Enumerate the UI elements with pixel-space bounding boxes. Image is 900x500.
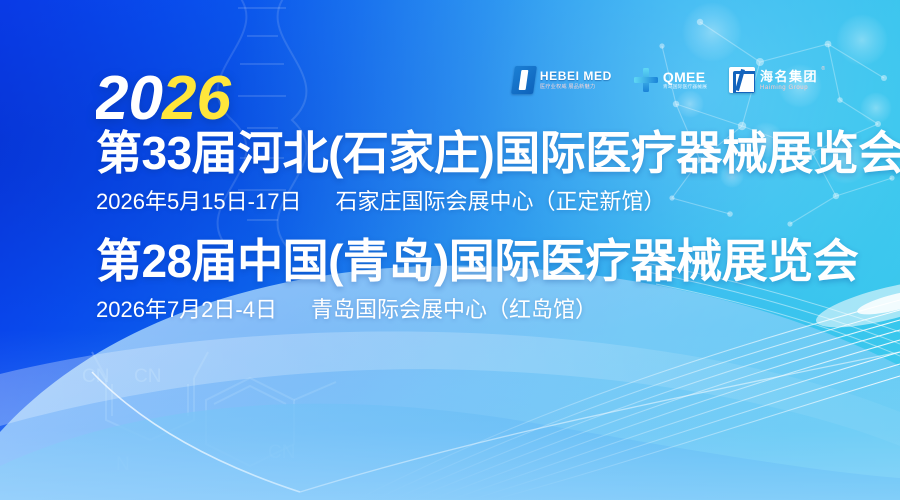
- event-2-venue: 青岛国际会展中心（红岛馆）: [311, 297, 597, 323]
- qmee-tagline: 青岛国际医疗器械展: [663, 86, 707, 91]
- qmee-name: QMEE: [663, 70, 707, 84]
- haiming-name-en: Haiming Group: [760, 85, 818, 91]
- event-1-date: 2026年5月15日-17日: [96, 189, 301, 215]
- hebei-med-name: HEBEI MED: [540, 70, 612, 82]
- partner-logo-hebei-med: HEBEI MED 医疗业权威 展品新魅力: [513, 66, 612, 94]
- event-block-1: 第33届河北(石家庄)国际医疗器械展览会 2026年5月15日-17日 石家庄国…: [96, 128, 900, 215]
- event-2-title: 第28届中国(青岛)国际医疗器械展览会: [96, 236, 858, 288]
- year-logo-part-white: 20: [96, 64, 163, 124]
- event-banner: CN CN N CN: [0, 0, 900, 500]
- partner-logo-qmee: QMEE 青岛国际医疗器械展: [634, 68, 707, 92]
- event-2-date: 2026年7月2日-4日: [96, 297, 277, 323]
- banner-content: 20 26 HEBEI MED 医疗业权威 展品新魅力 QMEE: [0, 0, 900, 500]
- partner-logo-haiming-group: ® 海名集团 Haiming Group: [729, 67, 818, 93]
- event-1-title: 第33届河北(石家庄)国际医疗器械展览会: [96, 128, 900, 180]
- event-block-2: 第28届中国(青岛)国际医疗器械展览会 2026年7月2日-4日 青岛国际会展中…: [96, 236, 858, 323]
- registered-trademark-icon: ®: [821, 67, 825, 72]
- medical-cross-icon: [634, 68, 658, 92]
- year-logo-part-yellow: 26: [161, 64, 231, 124]
- partner-logo-row: HEBEI MED 医疗业权威 展品新魅力 QMEE 青岛国际医疗器械展 ® 海…: [513, 66, 818, 94]
- haiming-emblem-icon: [729, 67, 755, 93]
- event-1-venue: 石家庄国际会展中心（正定新馆）: [335, 189, 665, 215]
- event-2-meta: 2026年7月2日-4日 青岛国际会展中心（红岛馆）: [96, 297, 858, 323]
- hebei-med-tagline: 医疗业权威 展品新魅力: [540, 85, 612, 90]
- event-1-meta: 2026年5月15日-17日 石家庄国际会展中心（正定新馆）: [96, 189, 900, 215]
- year-logo-2026: 20 26: [96, 62, 246, 124]
- haiming-name-cn: 海名集团: [760, 70, 818, 83]
- hebei-med-emblem-icon: [511, 66, 537, 94]
